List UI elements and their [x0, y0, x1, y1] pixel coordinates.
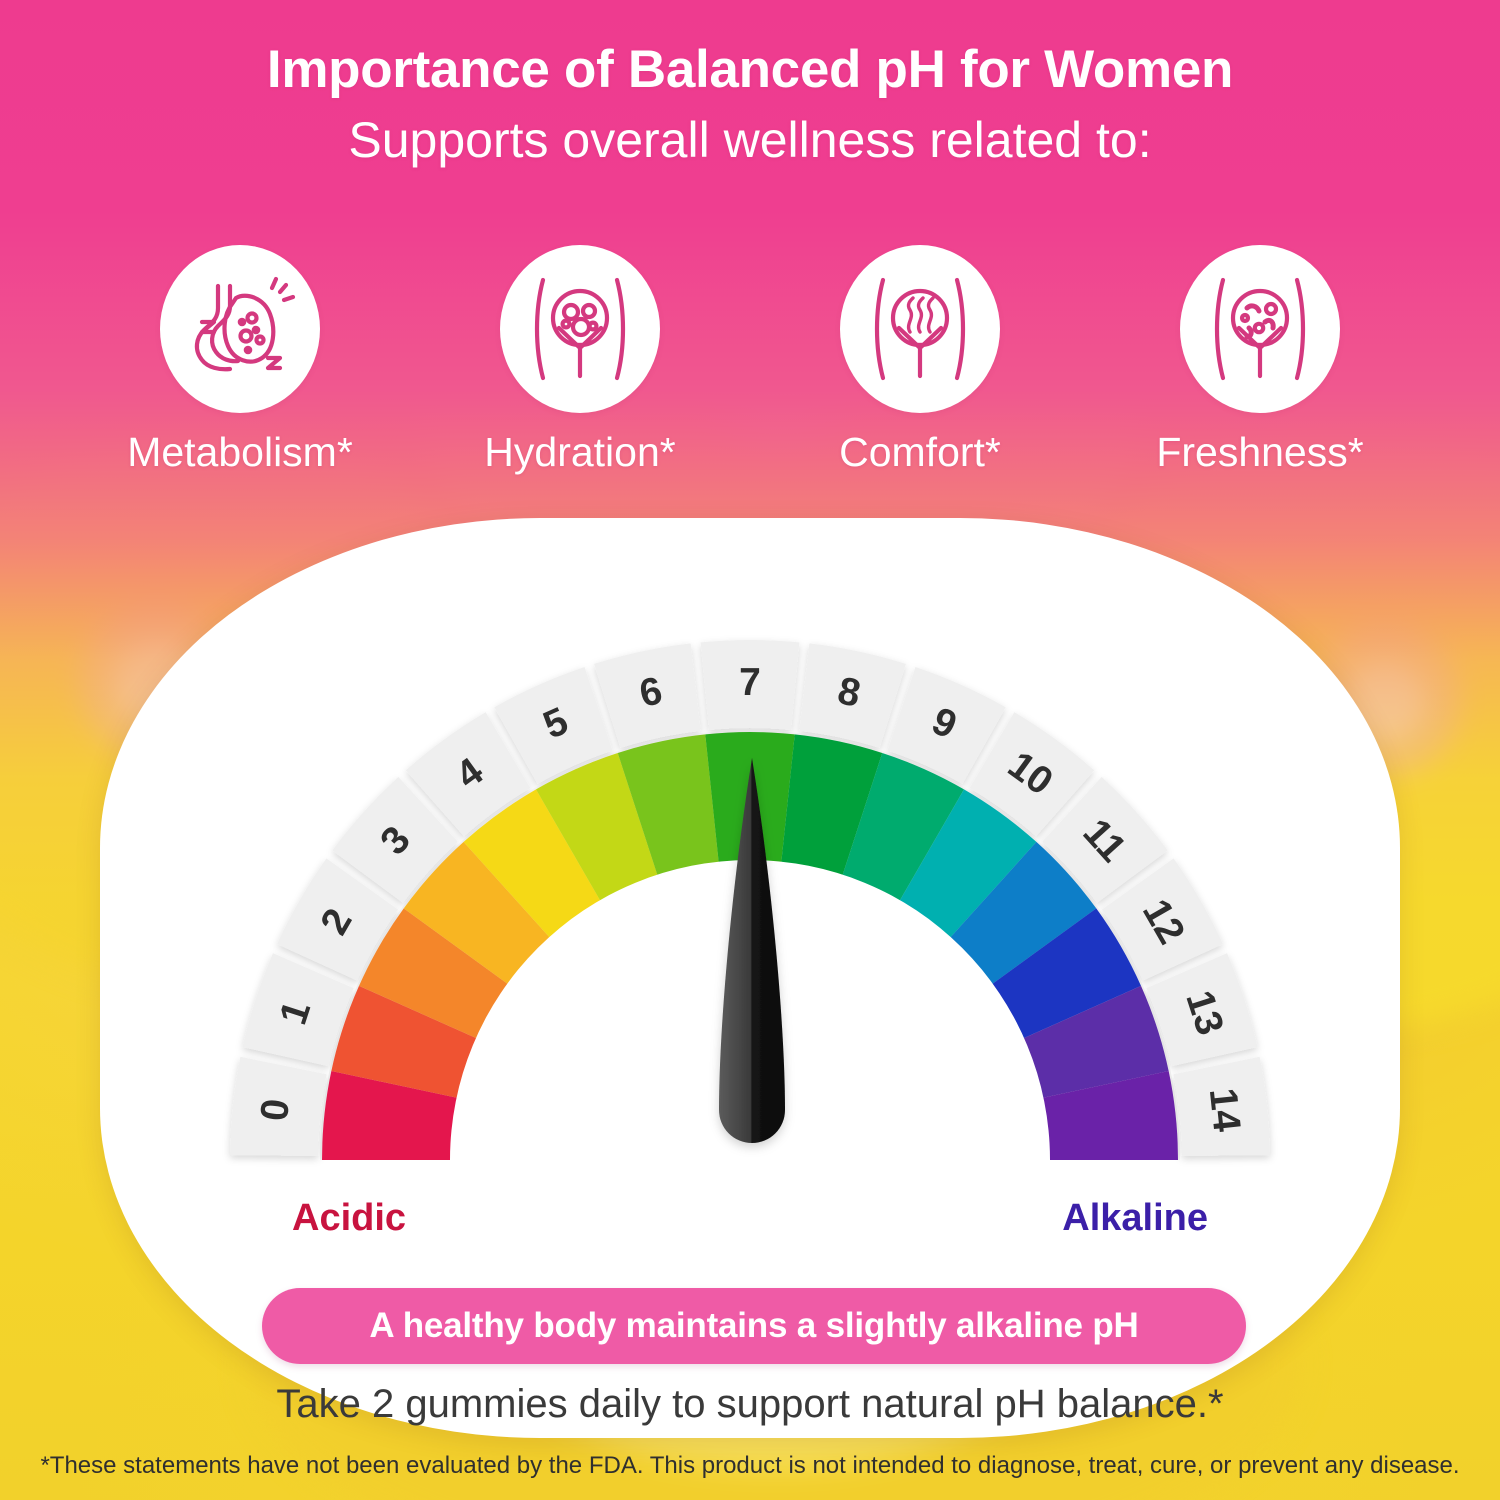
benefit-icon-badge: [1180, 245, 1340, 413]
banner-text: A healthy body maintains a slightly alka…: [369, 1306, 1138, 1346]
benefit-label: Metabolism*: [127, 429, 353, 476]
benefit-item-freshness: Freshness*: [1120, 245, 1400, 476]
gauge-band-segment: [705, 732, 794, 866]
fda-disclaimer: *These statements have not been evaluate…: [0, 1452, 1500, 1480]
benefit-icon-badge: [500, 245, 660, 413]
hydration-body-icon: [521, 270, 639, 388]
comfort-body-icon: [861, 270, 979, 388]
scale-endpoint-labels: Acidic Alkaline: [100, 1197, 1400, 1240]
benefits-row: Metabolism* Hydration*: [0, 245, 1500, 476]
freshness-body-icon: [1201, 270, 1319, 388]
ph-gauge: 01234567891011121314: [185, 590, 1315, 1230]
stomach-icon: [180, 270, 300, 388]
header: Importance of Balanced pH for Women Supp…: [0, 0, 1500, 166]
acidic-label: Acidic: [292, 1197, 406, 1240]
benefit-label: Hydration*: [484, 429, 675, 476]
benefit-item-comfort: Comfort*: [780, 245, 1060, 476]
gauge-tick-label: 14: [1200, 1086, 1248, 1134]
benefit-icon-badge: [160, 245, 320, 413]
gauge-tick-label: 7: [739, 661, 761, 705]
benefit-item-metabolism: Metabolism*: [100, 245, 380, 476]
benefit-label: Freshness*: [1156, 429, 1363, 476]
page-title: Importance of Balanced pH for Women: [0, 42, 1500, 98]
page-subtitle: Supports overall wellness related to:: [0, 114, 1500, 167]
healthy-body-banner: A healthy body maintains a slightly alka…: [262, 1288, 1246, 1364]
benefit-icon-badge: [840, 245, 1000, 413]
benefit-item-hydration: Hydration*: [440, 245, 720, 476]
alkaline-label: Alkaline: [1062, 1197, 1208, 1240]
benefit-label: Comfort*: [839, 429, 1001, 476]
dosage-instruction: Take 2 gummies daily to support natural …: [0, 1382, 1500, 1427]
